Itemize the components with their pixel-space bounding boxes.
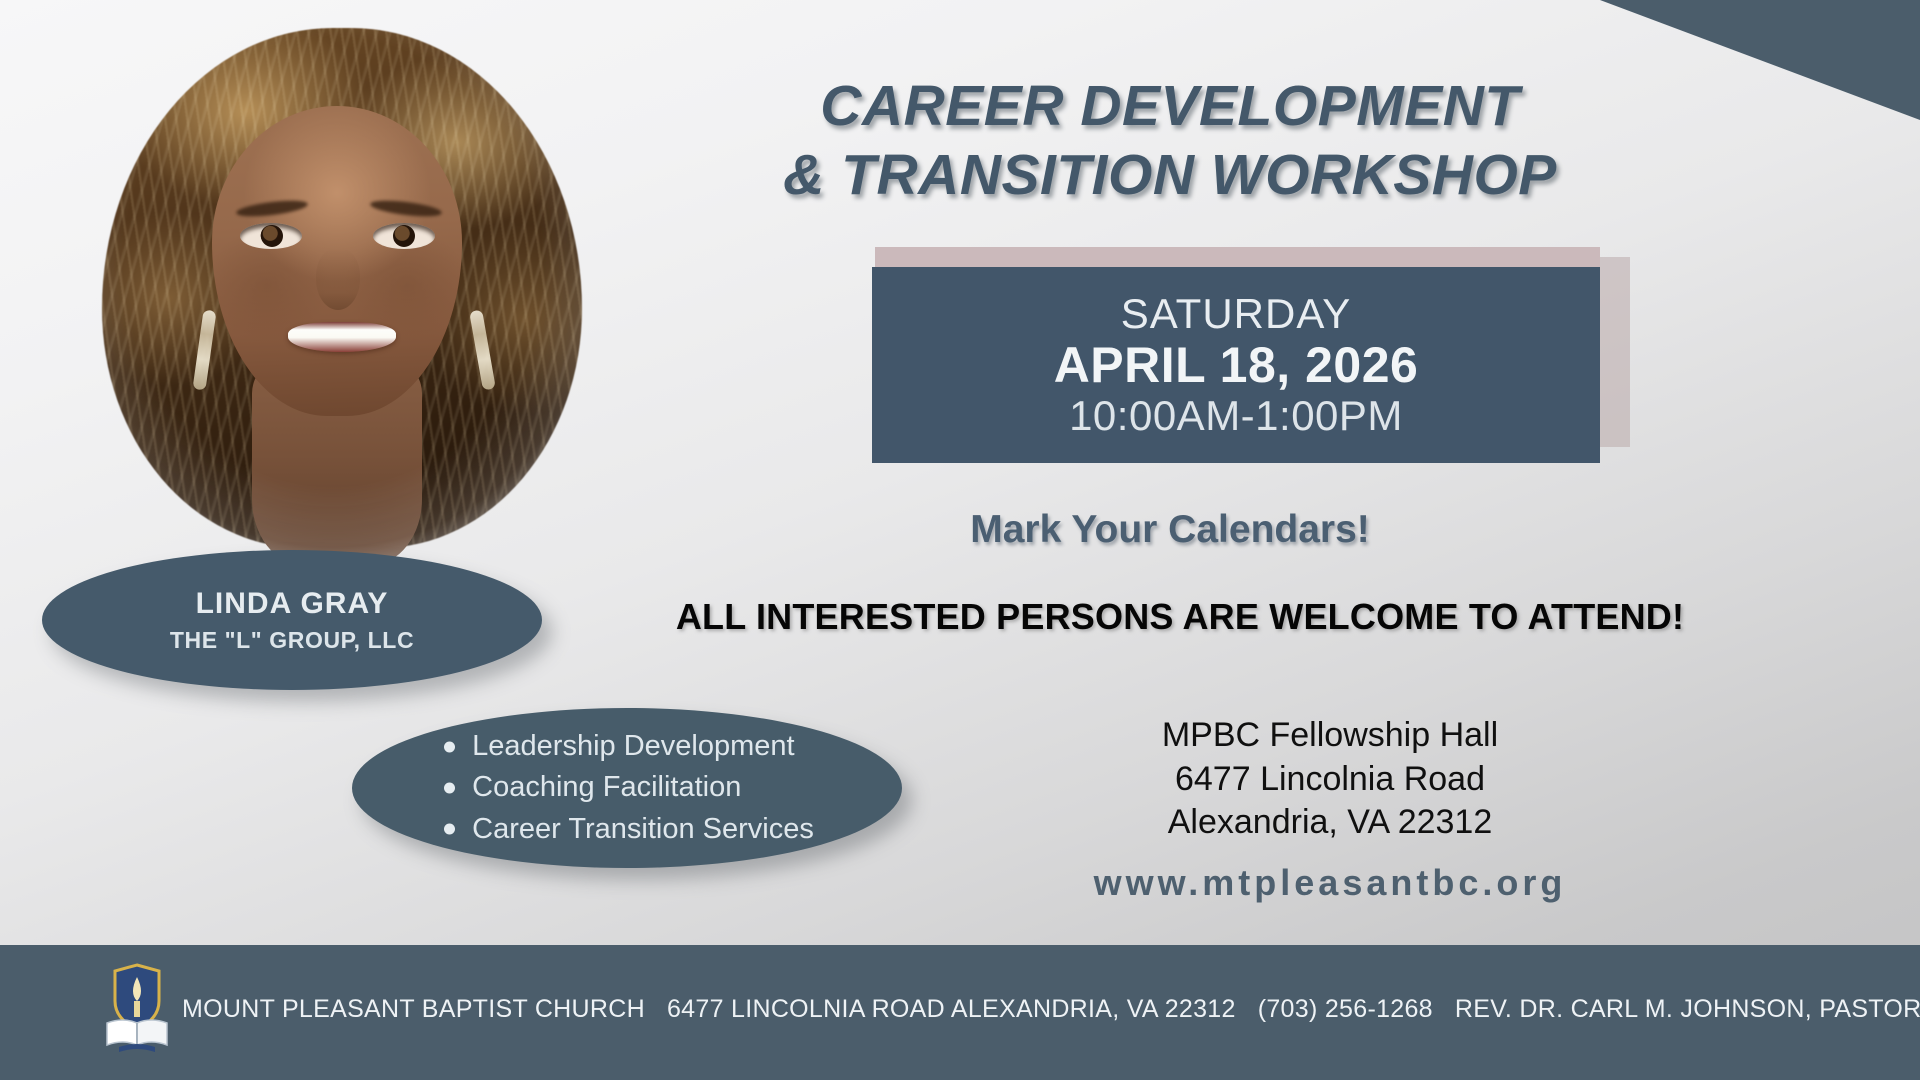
venue-city-state-zip: Alexandria, VA 22312 — [1030, 801, 1630, 845]
event-title-line-2: & TRANSITION WORKSHOP — [700, 147, 1640, 204]
venue-address: MPBC Fellowship Hall 6477 Lincolnia Road… — [1030, 714, 1630, 845]
portrait-pupil-right — [393, 225, 415, 247]
church-crest-icon — [103, 961, 171, 1053]
venue-street: 6477 Lincolnia Road — [1030, 758, 1630, 802]
bullet-icon — [444, 824, 455, 835]
bullet-icon — [444, 782, 455, 793]
speaker-organization: THE "L" GROUP, LLC — [170, 627, 414, 654]
mark-calendars-text: Mark Your Calendars! — [700, 508, 1640, 552]
footer-text: MOUNT PLEASANT BAPTIST CHURCH6477 LINCOL… — [182, 995, 1920, 1024]
services-badge: Leadership Development Coaching Facilita… — [352, 708, 902, 868]
service-label: Coaching Facilitation — [472, 771, 741, 803]
footer-church-name: MOUNT PLEASANT BAPTIST CHURCH — [182, 995, 645, 1023]
flyer-canvas: CAREER DEVELOPMENT & TRANSITION WORKSHOP… — [0, 0, 1920, 1080]
event-time: 10:00AM-1:00PM — [1069, 393, 1403, 439]
event-title: CAREER DEVELOPMENT & TRANSITION WORKSHOP — [700, 78, 1640, 204]
list-item: Career Transition Services — [440, 809, 814, 850]
footer-phone: (703) 256-1268 — [1258, 995, 1433, 1023]
footer-bar: MOUNT PLEASANT BAPTIST CHURCH6477 LINCOL… — [0, 945, 1920, 1080]
event-title-line-1: CAREER DEVELOPMENT — [700, 78, 1640, 135]
service-label: Career Transition Services — [472, 813, 814, 845]
portrait-pupil-left — [261, 225, 283, 247]
bullet-icon — [444, 741, 455, 752]
list-item: Leadership Development — [440, 726, 814, 767]
speaker-name: LINDA GRAY — [196, 587, 389, 621]
venue-name: MPBC Fellowship Hall — [1030, 714, 1630, 758]
footer-address: 6477 LINCOLNIA ROAD ALEXANDRIA, VA 22312 — [667, 995, 1236, 1023]
services-list: Leadership Development Coaching Facilita… — [440, 726, 814, 850]
portrait-mouth — [288, 322, 396, 352]
speaker-portrait — [0, 0, 700, 620]
event-date: APRIL 18, 2026 — [1054, 337, 1419, 393]
service-label: Leadership Development — [472, 730, 794, 762]
footer-pastor: REV. DR. CARL M. JOHNSON, PASTOR — [1455, 995, 1920, 1023]
portrait-nose — [316, 248, 360, 310]
welcome-text: ALL INTERESTED PERSONS ARE WELCOME TO AT… — [560, 596, 1800, 638]
list-item: Coaching Facilitation — [440, 767, 814, 808]
event-day-of-week: SATURDAY — [1121, 291, 1351, 336]
speaker-name-badge: LINDA GRAY THE "L" GROUP, LLC — [42, 550, 542, 690]
portrait-image — [40, 10, 650, 610]
date-card: SATURDAY APRIL 18, 2026 10:00AM-1:00PM — [872, 267, 1600, 463]
website-link[interactable]: www.mtpleasantbc.org — [930, 862, 1730, 904]
corner-triangle-decoration — [1600, 0, 1920, 120]
